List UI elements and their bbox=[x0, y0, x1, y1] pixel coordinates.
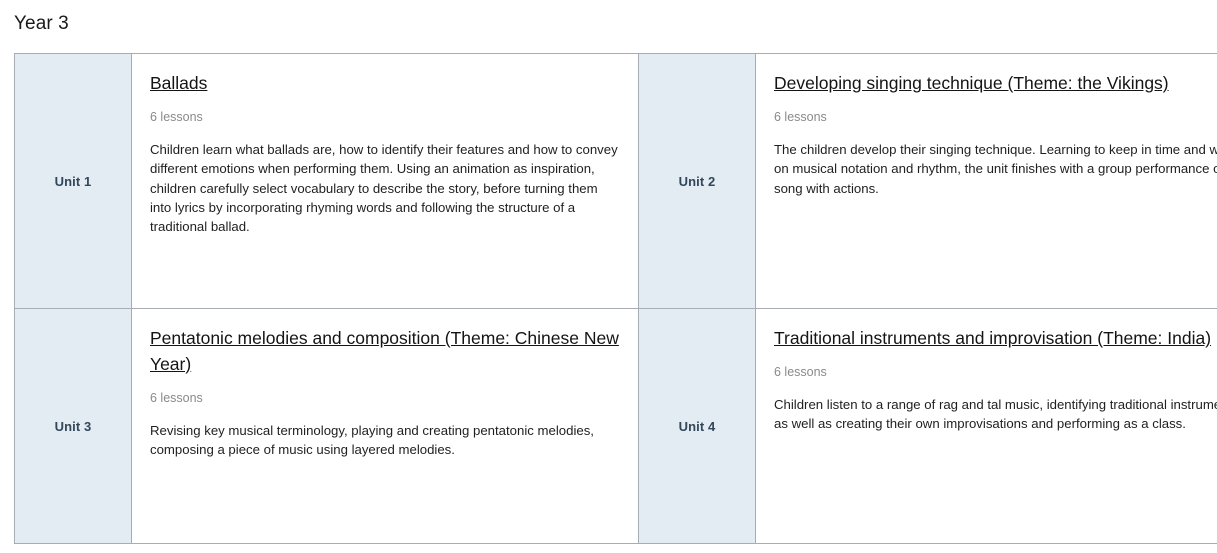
unit-label-cell-1: Unit 1 bbox=[15, 54, 132, 309]
unit-label-cell-2: Unit 2 bbox=[639, 54, 756, 309]
unit-lesson-count-3: 6 lessons bbox=[150, 389, 620, 407]
unit-title-link-2[interactable]: Developing singing technique (Theme: the… bbox=[774, 73, 1169, 93]
unit-label-cell-4: Unit 4 bbox=[639, 309, 756, 544]
unit-title-wrap-4: Traditional instruments and improvisatio… bbox=[774, 325, 1217, 351]
unit-title-link-3[interactable]: Pentatonic melodies and composition (The… bbox=[150, 328, 619, 374]
curriculum-overview-table: Unit 1 Ballads 6 lessons Children learn … bbox=[14, 53, 1217, 544]
unit-description-4: Children listen to a range of rag and ta… bbox=[774, 395, 1217, 434]
unit-description-2: The children develop their singing techn… bbox=[774, 140, 1217, 198]
unit-description-1: Children learn what ballads are, how to … bbox=[150, 140, 620, 236]
unit-title-link-4[interactable]: Traditional instruments and improvisatio… bbox=[774, 328, 1211, 348]
unit-label-cell-3: Unit 3 bbox=[15, 309, 132, 544]
unit-content-cell-4: Traditional instruments and improvisatio… bbox=[756, 309, 1217, 544]
unit-content-cell-1: Ballads 6 lessons Children learn what ba… bbox=[132, 54, 639, 309]
unit-description-3: Revising key musical terminology, playin… bbox=[150, 421, 620, 460]
unit-content-cell-2: Developing singing technique (Theme: the… bbox=[756, 54, 1217, 309]
page-title: Year 3 bbox=[14, 12, 69, 36]
unit-lesson-count-2: 6 lessons bbox=[774, 108, 1217, 126]
unit-title-wrap-1: Ballads bbox=[150, 70, 620, 96]
curriculum-page: Year 3 Unit 1 Ballads 6 lessons Children… bbox=[0, 0, 1217, 553]
unit-content-cell-3: Pentatonic melodies and composition (The… bbox=[132, 309, 639, 544]
unit-title-link-1[interactable]: Ballads bbox=[150, 73, 207, 93]
unit-title-wrap-3: Pentatonic melodies and composition (The… bbox=[150, 325, 620, 377]
unit-lesson-count-1: 6 lessons bbox=[150, 108, 620, 126]
table-row: Unit 1 Ballads 6 lessons Children learn … bbox=[15, 54, 1217, 309]
unit-title-wrap-2: Developing singing technique (Theme: the… bbox=[774, 70, 1217, 96]
unit-lesson-count-4: 6 lessons bbox=[774, 363, 1217, 381]
table-row: Unit 3 Pentatonic melodies and compositi… bbox=[15, 309, 1217, 544]
